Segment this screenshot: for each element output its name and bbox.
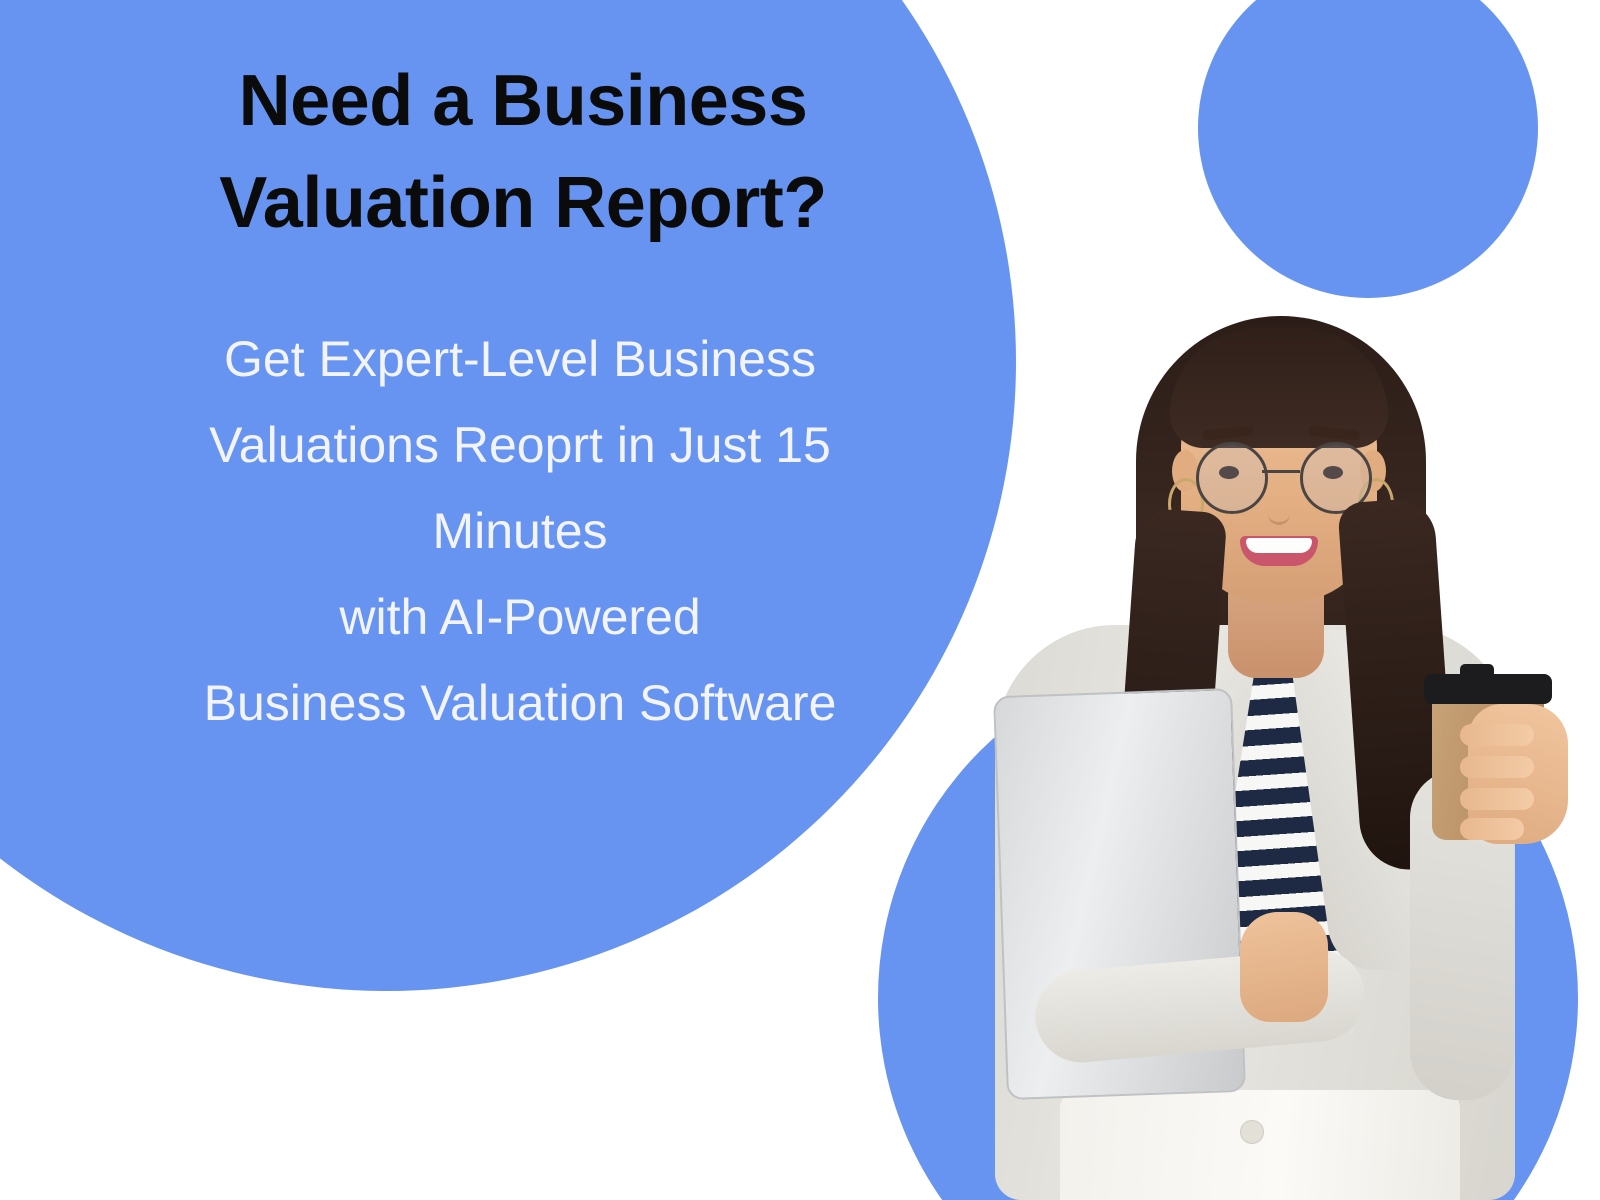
coffee-cup-lid-tab xyxy=(1460,664,1494,680)
headline-line-2: Valuation Report? xyxy=(66,152,980,254)
promo-banner: Need a Business Valuation Report? Get Ex… xyxy=(0,0,1600,1200)
small-blue-circle-top-right xyxy=(1198,0,1538,298)
subheadline-line-4: with AI-Powered xyxy=(60,574,980,660)
teeth xyxy=(1246,538,1312,553)
subheadline-line-5: Business Valuation Software xyxy=(60,660,980,746)
businesswoman-photo xyxy=(940,300,1600,1200)
finger-index xyxy=(1460,724,1534,746)
hand-left xyxy=(1240,912,1328,1022)
subheadline-line-1: Get Expert-Level Business xyxy=(60,316,980,402)
trouser-button xyxy=(1240,1120,1264,1144)
white-trousers xyxy=(1060,1090,1460,1200)
finger-pinky xyxy=(1460,818,1524,840)
finger-middle xyxy=(1460,756,1534,778)
page-title: Need a Business Valuation Report? xyxy=(60,50,980,254)
subheadline-line-2: Valuations Reoprt in Just 15 xyxy=(60,402,980,488)
subheadline: Get Expert-Level Business Valuations Reo… xyxy=(60,316,980,746)
text-block: Need a Business Valuation Report? Get Ex… xyxy=(60,50,980,746)
nose xyxy=(1268,496,1290,525)
glasses-bridge xyxy=(1262,470,1300,473)
subheadline-line-3: Minutes xyxy=(60,488,980,574)
headline-line-1: Need a Business xyxy=(66,50,980,152)
glasses-lens-left xyxy=(1196,442,1268,514)
finger-ring xyxy=(1460,788,1534,810)
